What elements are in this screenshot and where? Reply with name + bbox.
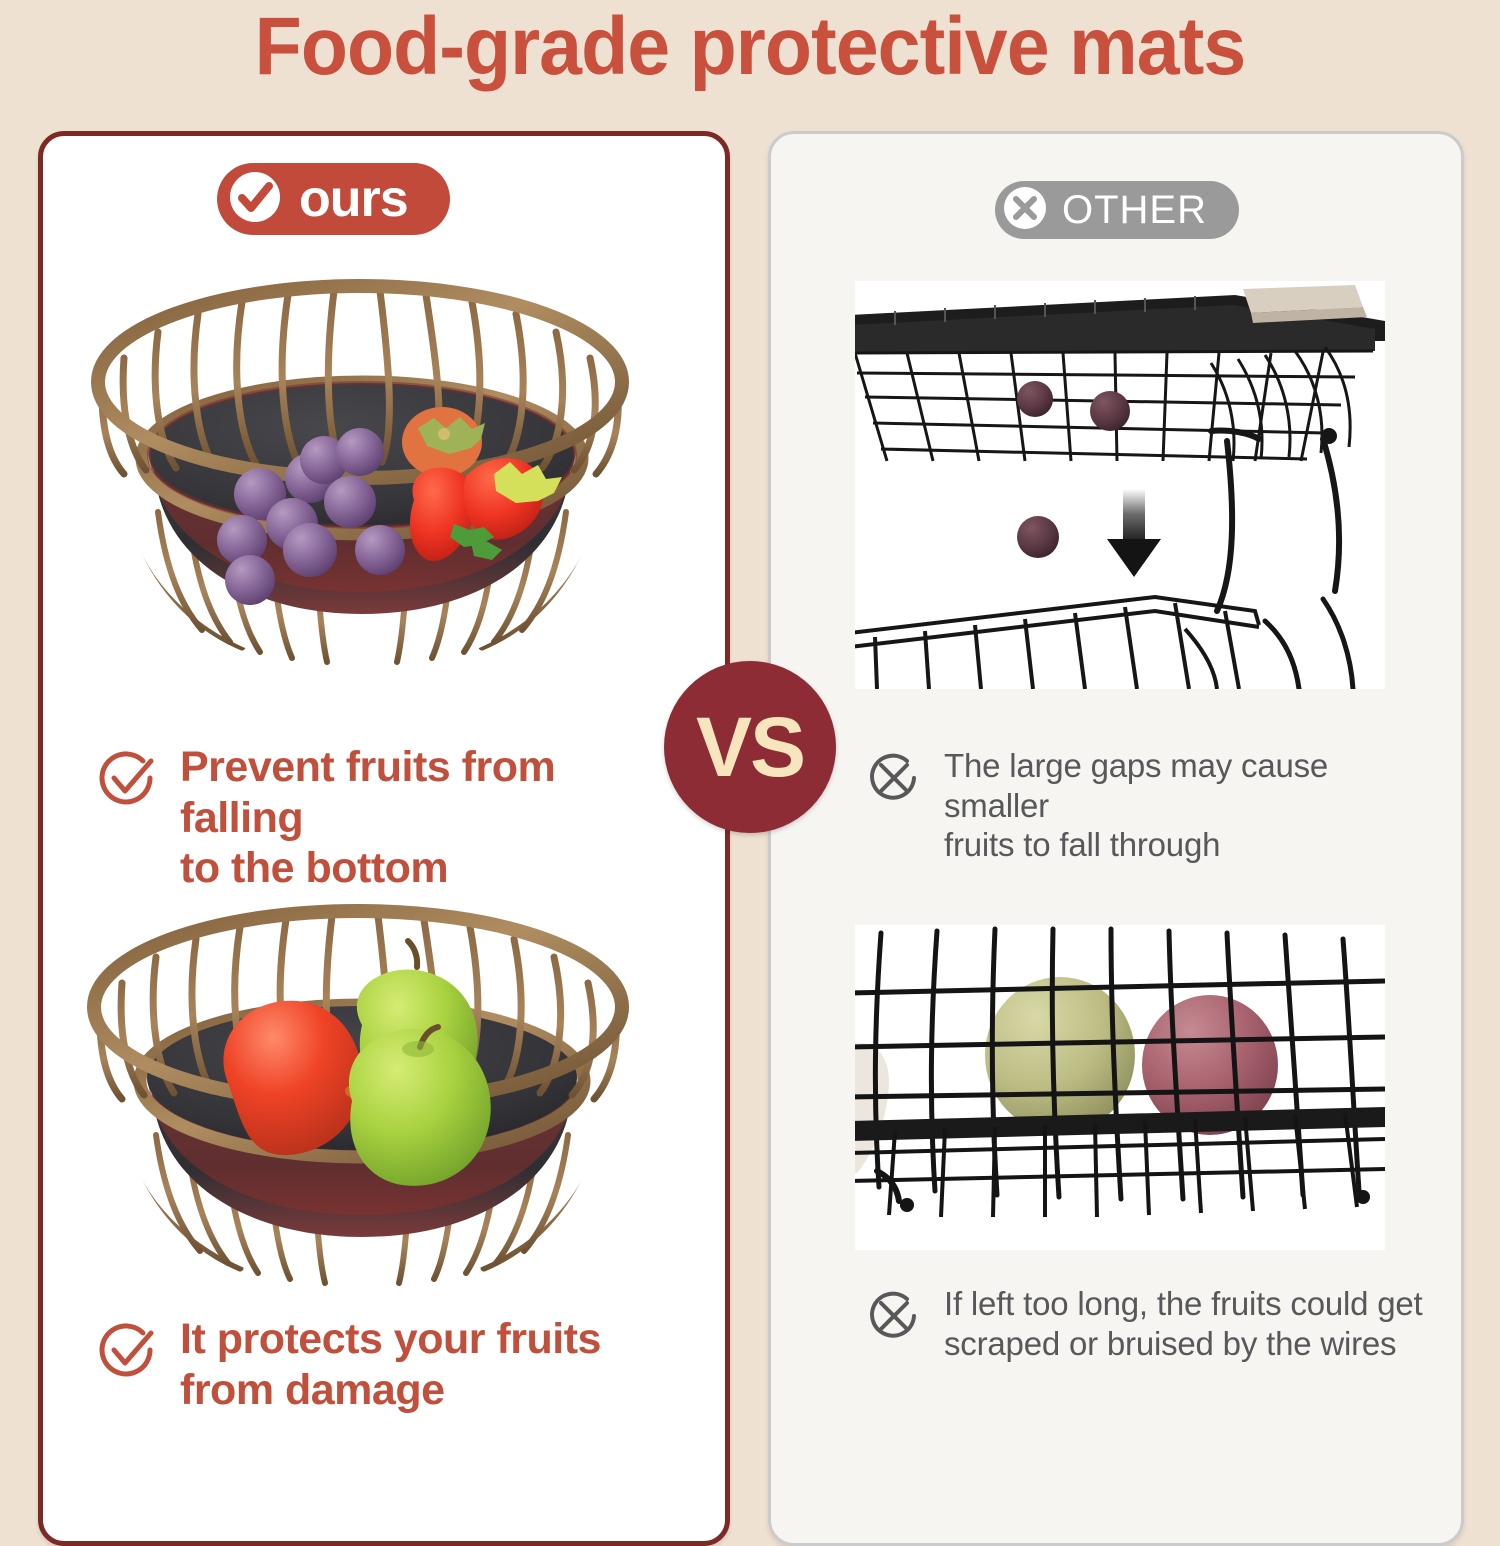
check-circle-icon	[227, 169, 283, 230]
x-circle-outline-icon	[866, 750, 922, 811]
caption-other-2: If left too long, the fruits could get s…	[866, 1284, 1426, 1363]
caption-other-1: The large gaps may cause smaller fruits …	[866, 746, 1426, 865]
vs-badge: VS	[664, 661, 836, 833]
photo-ours-basket-grapes-strawberries	[62, 262, 662, 692]
caption-ours-1: Prevent fruits from falling to the botto…	[96, 742, 676, 894]
badge-other-label: OTHER	[1062, 188, 1207, 233]
caption-ours-1-text: Prevent fruits from falling to the botto…	[180, 742, 676, 894]
check-circle-outline-icon	[96, 1318, 158, 1385]
caption-ours-2-text: It protects your fruits from damage	[180, 1314, 601, 1415]
badge-ours-label: ours	[299, 169, 408, 229]
photo-other-rack-grape-falling	[855, 281, 1385, 689]
vs-label: VS	[696, 699, 804, 796]
badge-other: OTHER	[995, 181, 1239, 239]
caption-ours-2: It protects your fruits from damage	[96, 1314, 676, 1415]
caption-other-2-text: If left too long, the fruits could get s…	[944, 1284, 1423, 1363]
badge-ours: ours	[217, 163, 450, 235]
caption-other-1-text: The large gaps may cause smaller fruits …	[944, 746, 1426, 865]
photo-other-apples-on-wires	[855, 925, 1385, 1250]
x-circle-icon	[1002, 185, 1048, 236]
photo-ours-basket-apples	[62, 893, 662, 1308]
page-title: Food-grade protective mats	[45, 4, 1455, 90]
x-circle-outline-icon	[866, 1288, 922, 1349]
check-circle-outline-icon	[96, 746, 158, 813]
